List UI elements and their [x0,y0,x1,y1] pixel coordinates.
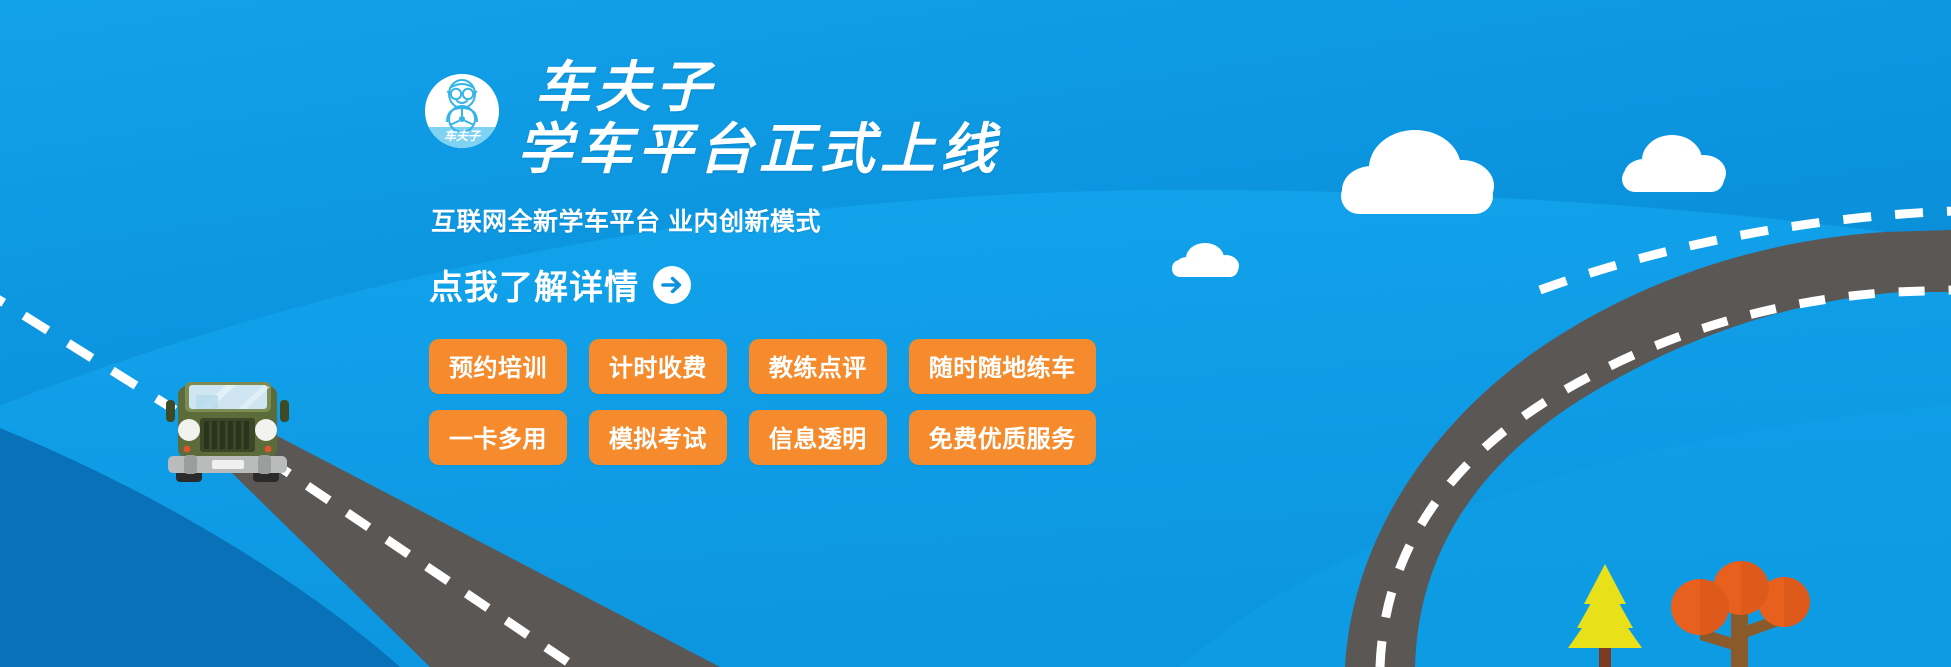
license-plate [212,460,244,469]
brand-logo[interactable]: 车夫子 [425,74,499,148]
cloud-icon [1622,135,1726,192]
feature-tag[interactable]: 免费优质服务 [909,410,1096,465]
feature-tag[interactable]: 计时收费 [589,339,727,394]
banner-content: 车夫子 车夫子 学车平台正式上线 互联网全新学车平台 业内创新模式 点我了解详情… [425,60,1185,465]
brand-row: 车夫子 车夫子 学车平台正式上线 [425,60,1185,178]
jeep-illustration [160,368,295,486]
feature-tags: 预约培训 计时收费 教练点评 随时随地练车 一卡多用 模拟考试 信息透明 免费优… [429,339,1185,465]
side-mirror [280,400,289,422]
round-tree-icon [1671,561,1810,667]
banner-title-line1: 车夫子 [535,60,1001,116]
cta-link[interactable]: 点我了解详情 [429,260,691,309]
feature-tag[interactable]: 模拟考试 [589,410,727,465]
feature-tags-row-2: 一卡多用 模拟考试 信息透明 免费优质服务 [429,410,1185,465]
cloud-icon [1341,130,1494,214]
feature-tag[interactable]: 随时随地练车 [909,339,1096,394]
pine-tree-icon [1568,564,1642,667]
feature-tag[interactable]: 预约培训 [429,339,567,394]
promo-banner: 车夫子 车夫子 学车平台正式上线 互联网全新学车平台 业内创新模式 点我了解详情… [0,0,1951,667]
banner-subtitle: 互联网全新学车平台 业内创新模式 [431,202,1185,238]
feature-tags-row-1: 预约培训 计时收费 教练点评 随时随地练车 [429,339,1185,394]
feature-tag[interactable]: 信息透明 [749,410,887,465]
headlight [178,419,200,441]
title-block: 车夫子 学车平台正式上线 [535,60,1001,178]
cta-label: 点我了解详情 [429,260,639,309]
feature-tag[interactable]: 教练点评 [749,339,887,394]
banner-title-line2: 学车平台正式上线 [517,122,1001,178]
headlight [255,419,277,441]
feature-tag[interactable]: 一卡多用 [429,410,567,465]
logo-wordmark: 车夫子 [444,129,482,143]
side-mirror [166,400,175,422]
arrow-right-circle-icon [653,266,691,304]
